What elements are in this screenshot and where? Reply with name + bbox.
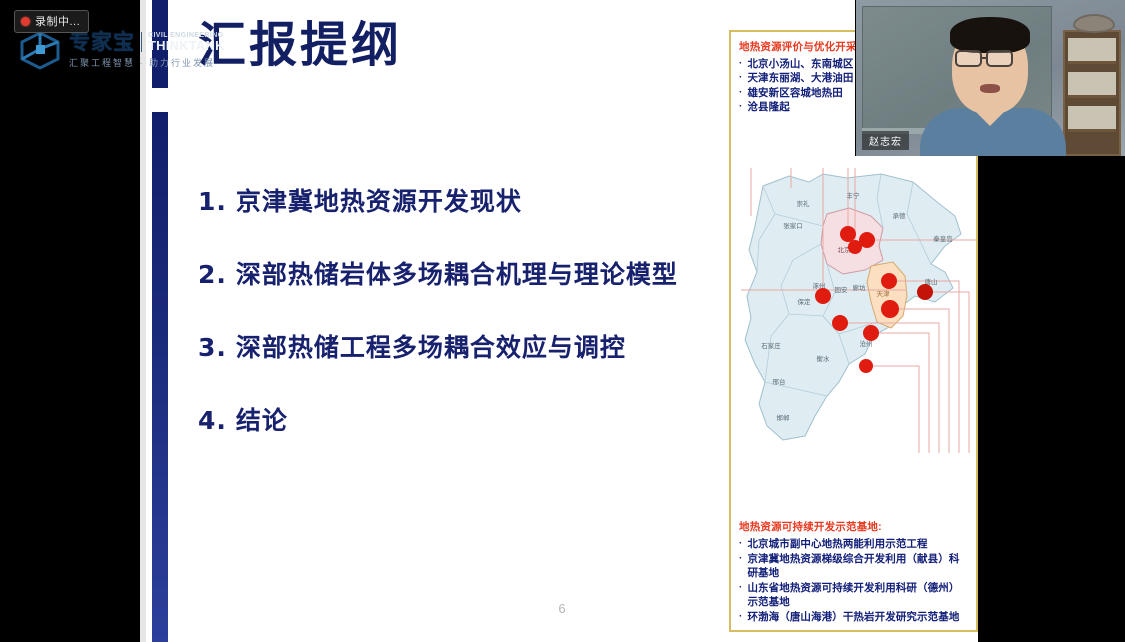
brand-divider — [141, 32, 142, 52]
brand-tagline: 汇聚工程智慧 · 助力行业发展 — [69, 56, 225, 69]
list-item-label: 深部热储工程多场耦合效应与调控 — [236, 328, 626, 364]
presenter-hair — [950, 17, 1030, 53]
recording-indicator: 录制中... — [14, 10, 89, 33]
map-label: 天津 — [877, 290, 891, 298]
list-item-label: 结论 — [236, 401, 288, 437]
bookshelf-row — [1068, 38, 1116, 64]
map-label: 张家口 — [783, 221, 803, 230]
list-item-label: 北京城市副中心地热两能利用示范工程 — [747, 537, 970, 551]
site-marker — [832, 315, 848, 331]
list-item: 4. 结论 — [198, 401, 758, 437]
page-title: 汇报提纲 — [198, 21, 402, 69]
cube-logo-icon — [18, 30, 62, 70]
presenter-name-tag: 赵志宏 — [862, 131, 909, 150]
map-label: 邢台 — [773, 377, 786, 386]
presenter-mouth — [980, 84, 1000, 93]
map-label: 丰宁 — [847, 191, 861, 200]
title-accent-bar-bottom — [152, 112, 168, 642]
presenter-webcam-video[interactable]: 赵志宏 — [855, 0, 1125, 156]
recording-label: 录制中... — [35, 13, 80, 29]
record-dot-icon — [21, 17, 30, 26]
site-marker — [859, 359, 873, 373]
bullet-icon: · — [739, 537, 742, 551]
bullet-icon: · — [739, 552, 742, 581]
list-item-number: 1. — [198, 187, 227, 216]
map-label: 石家庄 — [761, 341, 781, 350]
jingjinji-region-map: 崇礼 丰宁 张家口 承德 秦皇岛 北京 涿州 固安 廊坊 保定 天津 唐山 石家… — [731, 168, 976, 453]
list-item-number: 3. — [198, 333, 227, 362]
demonstration-box-list: ·北京城市副中心地热两能利用示范工程 ·京津冀地热资源梯级综合开发利用（献县）科… — [739, 537, 970, 624]
site-marker — [840, 226, 856, 242]
site-marker — [917, 284, 933, 300]
decorative-bowl — [1073, 14, 1115, 33]
bullet-icon: · — [739, 581, 742, 610]
demonstration-box-title: 地热资源可持续开发示范基地: — [739, 519, 970, 534]
bookshelf-row — [1068, 106, 1116, 132]
bookshelf — [1063, 30, 1121, 156]
list-item: 1. 京津冀地热资源开发现状 — [198, 182, 758, 218]
brand-name-cn: 专家宝 — [69, 32, 135, 53]
list-item-label: 京津冀地热资源开发现状 — [236, 182, 522, 218]
map-label: 保定 — [798, 297, 812, 306]
bullet-icon: · — [739, 100, 742, 114]
list-item-label: 深部热储岩体多场耦合机理与理论模型 — [236, 255, 678, 291]
list-item: ·环渤海（唐山海港）干热岩开发研究示范基地 — [739, 610, 970, 624]
site-marker — [863, 325, 879, 341]
list-item-label: 京津冀地热资源梯级综合开发利用（献县）科研基地 — [747, 552, 970, 581]
brand-watermark: 专家宝 CIVIL ENGINEERING THINKTANK 汇聚工程智慧 ·… — [18, 30, 225, 70]
site-marker — [815, 288, 831, 304]
demonstration-base-callout-box: 地热资源可持续开发示范基地: ·北京城市副中心地热两能利用示范工程 ·京津冀地热… — [731, 512, 976, 628]
list-item-label: 环渤海（唐山海港）干热岩开发研究示范基地 — [747, 610, 970, 624]
list-item-number: 2. — [198, 260, 227, 289]
list-item-number: 4. — [198, 406, 227, 435]
bullet-icon: · — [739, 57, 742, 71]
brand-name-en-bottom: THINKTANK — [148, 39, 225, 53]
glasses-left-lens-icon — [955, 50, 982, 67]
map-label: 邯郸 — [777, 414, 791, 422]
list-item-label: 山东省地热资源可持续开发利用科研（德州）示范基地 — [747, 581, 970, 610]
glasses-right-lens-icon — [986, 50, 1013, 67]
map-label: 秦皇岛 — [933, 234, 953, 243]
map-label: 廊坊 — [853, 283, 867, 292]
map-svg: 崇礼 丰宁 张家口 承德 秦皇岛 北京 涿州 固安 廊坊 保定 天津 唐山 石家… — [731, 168, 976, 453]
glasses-bridge-icon — [982, 57, 988, 59]
map-label: 固安 — [835, 285, 849, 294]
bullet-icon: · — [739, 610, 742, 624]
map-label: 衡水 — [817, 354, 831, 363]
site-marker — [881, 300, 899, 318]
bullet-icon: · — [739, 71, 742, 85]
list-item: 2. 深部热储岩体多场耦合机理与理论模型 — [198, 255, 758, 291]
map-label: 崇礼 — [797, 199, 811, 208]
presentation-slide: 汇报提纲 1. 京津冀地热资源开发现状 2. 深部热储岩体多场耦合机理与理论模型… — [140, 0, 978, 642]
list-item: ·山东省地热资源可持续开发利用科研（德州）示范基地 — [739, 581, 970, 610]
outline-list: 1. 京津冀地热资源开发现状 2. 深部热储岩体多场耦合机理与理论模型 3. 深… — [198, 182, 758, 474]
list-item: ·京津冀地热资源梯级综合开发利用（献县）科研基地 — [739, 552, 970, 581]
site-marker — [881, 273, 897, 289]
brand-text-group: 专家宝 CIVIL ENGINEERING THINKTANK 汇聚工程智慧 ·… — [69, 32, 225, 69]
site-marker — [848, 240, 862, 254]
list-item: ·北京城市副中心地热两能利用示范工程 — [739, 537, 970, 551]
map-label: 承德 — [893, 211, 907, 220]
list-item: 3. 深部热储工程多场耦合效应与调控 — [198, 328, 758, 364]
bookshelf-row — [1068, 72, 1116, 98]
bullet-icon: · — [739, 86, 742, 100]
